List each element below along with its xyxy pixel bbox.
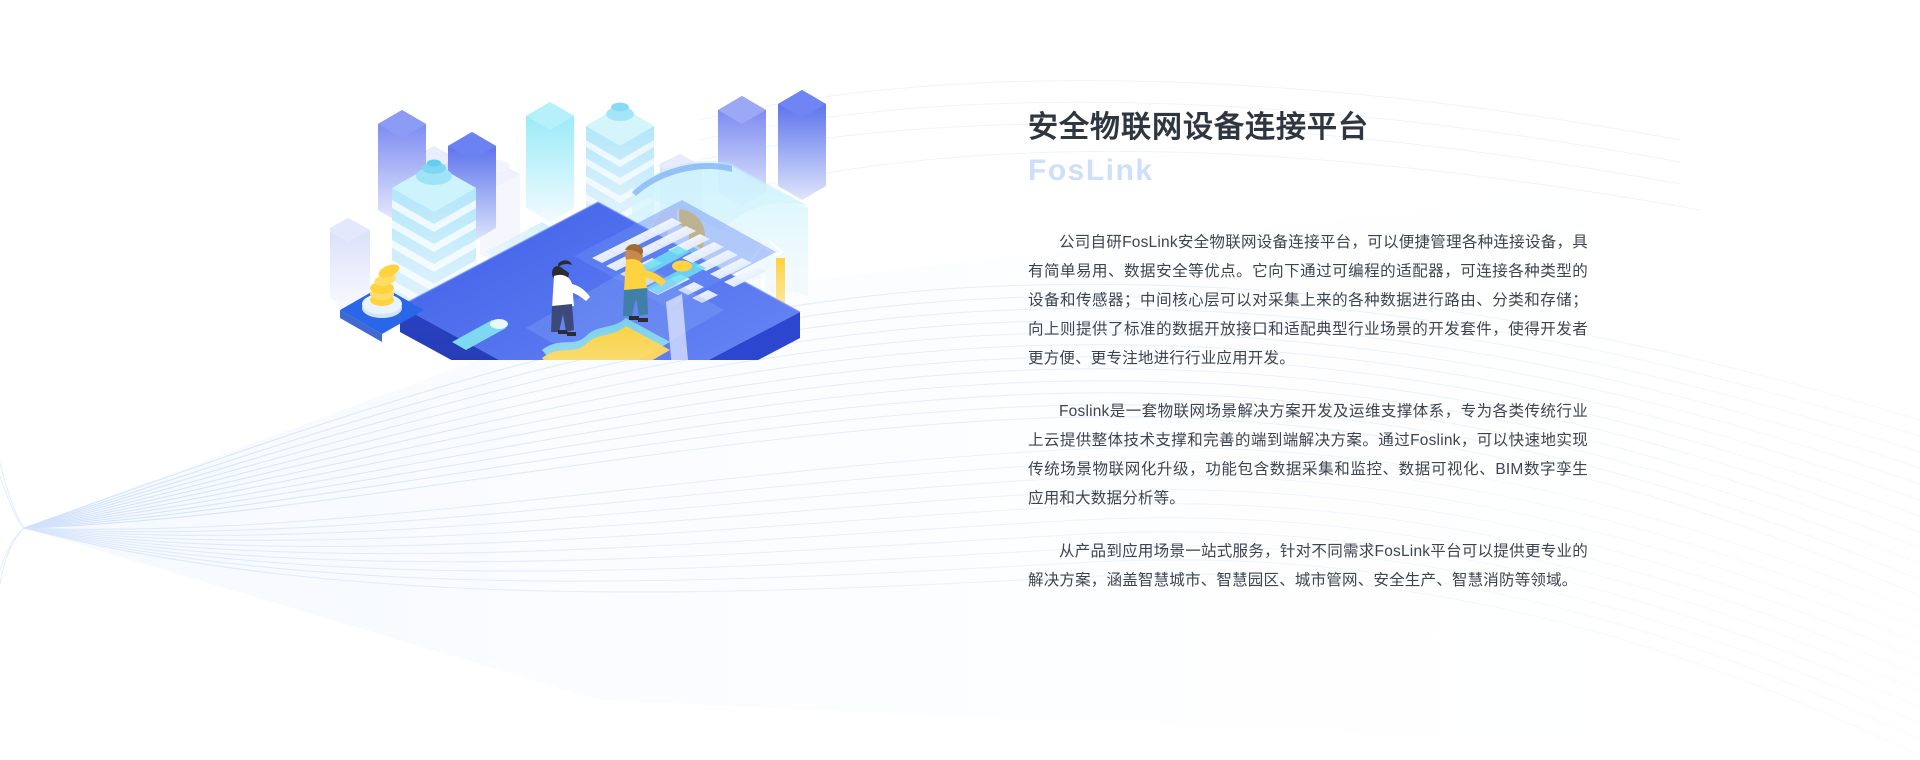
page-title: 安全物联网设备连接平台 xyxy=(1028,108,1588,148)
isometric-smart-city-illustration xyxy=(330,60,830,360)
paragraph-2: Foslink是一套物联网场景解决方案开发及运维支撑体系，专为各类传统行业上云提… xyxy=(1028,397,1588,513)
product-name-subtitle: FosLink xyxy=(1028,150,1588,192)
background-wave-lines xyxy=(0,0,1920,760)
description-paragraphs: 公司自研FosLink安全物联网设备连接平台，可以便捷管理各种连接设备，具有简单… xyxy=(1028,228,1588,595)
hero-content: 安全物联网设备连接平台 FosLink 公司自研FosLink安全物联网设备连接… xyxy=(1028,108,1588,595)
paragraph-1: 公司自研FosLink安全物联网设备连接平台，可以便捷管理各种连接设备，具有简单… xyxy=(1028,228,1588,373)
hero-page: 安全物联网设备连接平台 FosLink 公司自研FosLink安全物联网设备连接… xyxy=(0,0,1920,760)
paragraph-3: 从产品到应用场景一站式服务，针对不同需求FosLink平台可以提供更专业的解决方… xyxy=(1028,537,1588,595)
